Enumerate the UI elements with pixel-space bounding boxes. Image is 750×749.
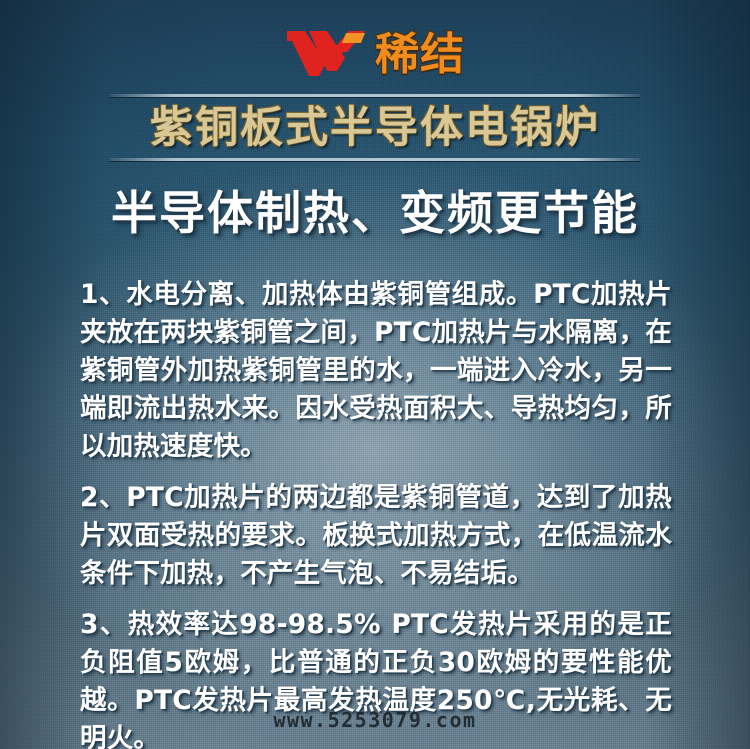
headline-text: 半导体制热、变频更节能 (0, 184, 750, 242)
brand-logo-row: 稀结 (0, 22, 750, 88)
banner-rule-top (110, 94, 640, 97)
banner-block: 紫铜板式半导体电锅炉 (0, 94, 750, 161)
xi-jie-x-mark-logo-icon (285, 27, 367, 83)
banner-rule-bottom (110, 158, 640, 161)
body-paragraph-2: 2、PTC加热片的两边都是紫铜管道，达到了加热片双面受热的要求。板换式加热方式，… (80, 479, 672, 593)
site-watermark: www.5253079.com (0, 708, 750, 732)
product-poster: 稀结 紫铜板式半导体电锅炉 半导体制热、变频更节能 1、水电分离、加热体由紫铜管… (0, 0, 750, 749)
brand-name-text: 稀结 (375, 33, 465, 77)
body-paragraph-1: 1、水电分离、加热体由紫铜管组成。PTC加热片夹放在两块紫铜管之间，PTC加热片… (80, 276, 672, 466)
body-copy-block: 1、水电分离、加热体由紫铜管组成。PTC加热片夹放在两块紫铜管之间，PTC加热片… (80, 276, 672, 749)
banner-title: 紫铜板式半导体电锅炉 (0, 100, 750, 156)
